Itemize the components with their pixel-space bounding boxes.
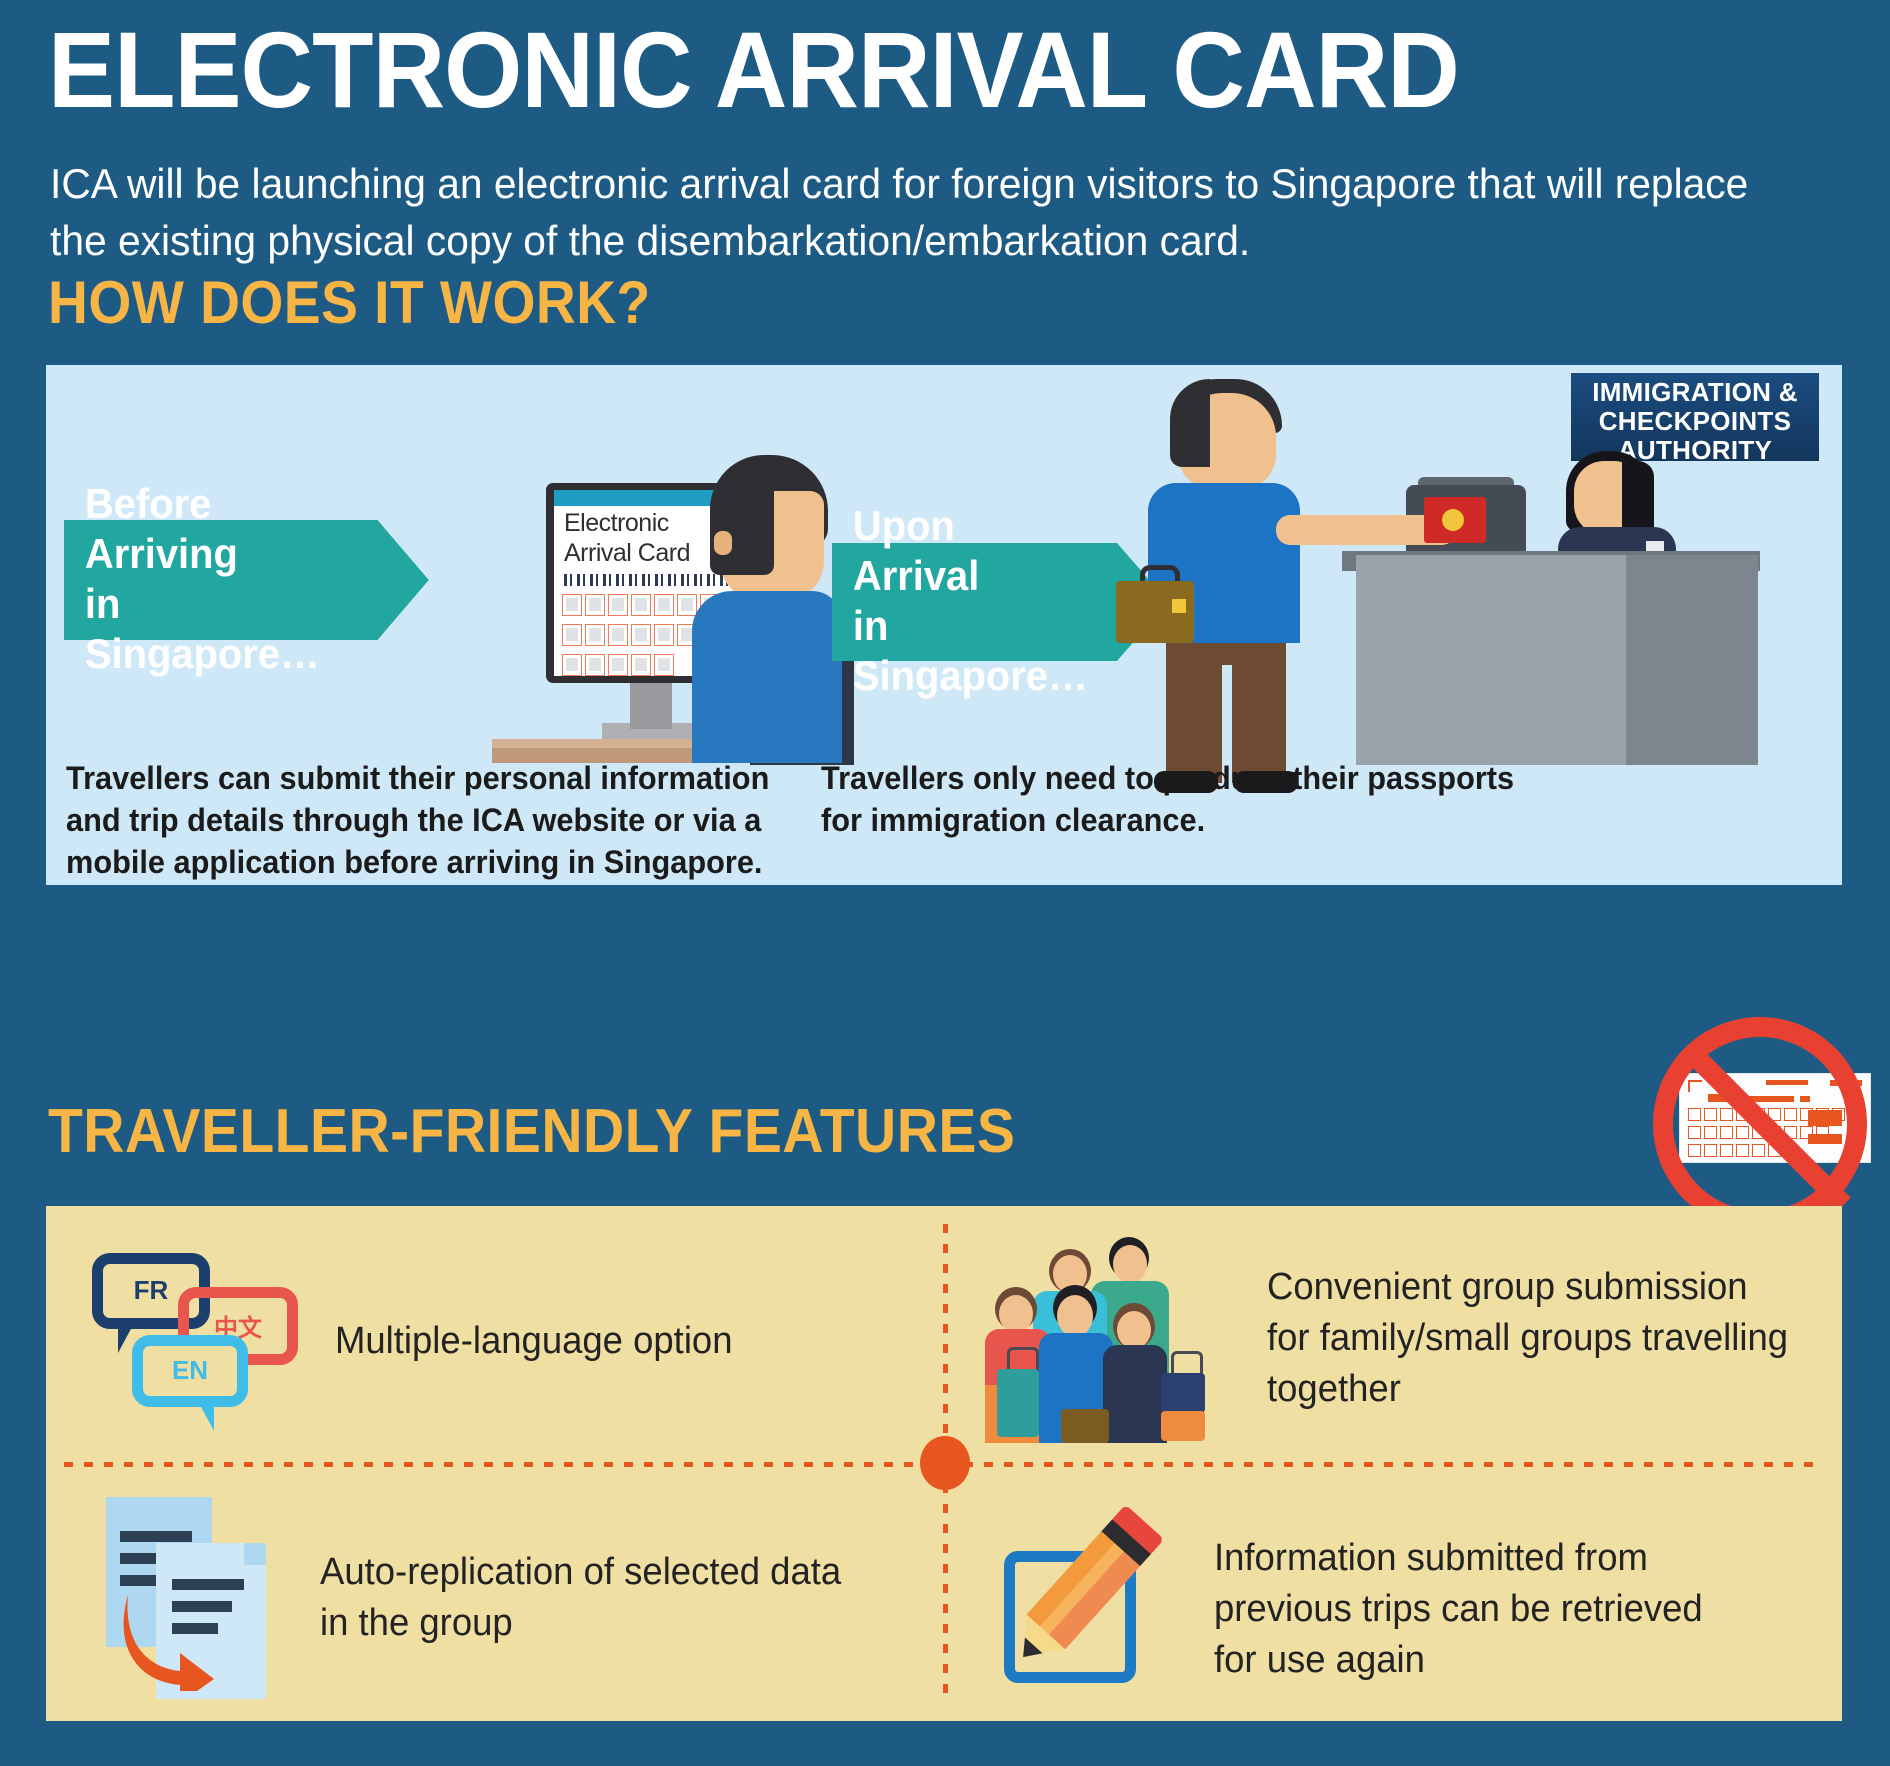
header-section: ELECTRONIC ARRIVAL CARD ICA will be laun… xyxy=(0,0,1890,340)
how-does-it-work-heading: HOW DOES IT WORK? xyxy=(48,272,651,334)
form-cell xyxy=(562,654,582,676)
language-bubble-fr-label: FR xyxy=(134,1275,169,1306)
person-head xyxy=(1057,1295,1093,1337)
form-cell xyxy=(608,654,628,676)
before-arriving-banner: Before Arriving in Singapore… xyxy=(64,520,378,640)
language-bubble-fr-tail xyxy=(118,1327,132,1353)
suitcase xyxy=(997,1369,1039,1437)
language-bubbles-icon: FR 中文 EN xyxy=(88,1249,303,1434)
traveller-hair-side xyxy=(1170,379,1210,467)
replication-arrow-icon xyxy=(122,1591,218,1691)
person-head xyxy=(1117,1311,1151,1349)
form-cell xyxy=(608,624,628,646)
upon-arrival-description: Travellers only need to produce their pa… xyxy=(821,757,1522,841)
language-bubble-en-tail xyxy=(200,1405,214,1431)
divider-center-dot xyxy=(920,1436,970,1490)
document-text-line xyxy=(120,1531,192,1542)
before-arriving-line2: in Singapore… xyxy=(85,579,349,679)
ica-sign-line1: IMMIGRATION & xyxy=(1571,378,1819,407)
screen-card-title: Electronic Arrival Card xyxy=(564,508,690,568)
upon-arrival-line2: in Singapore… xyxy=(853,601,1089,701)
feature-group-submission: Convenient group submission for family/s… xyxy=(991,1218,1821,1458)
form-cell xyxy=(562,594,582,616)
barcode xyxy=(564,574,742,586)
passport-emblem xyxy=(1442,509,1464,531)
feature-auto-replication: Auto-replication of selected data in the… xyxy=(98,1488,928,1708)
feature-retrieve-previous: Information submitted from previous trip… xyxy=(996,1494,1826,1724)
briefcase xyxy=(1061,1409,1109,1443)
person-body xyxy=(1103,1345,1167,1443)
suitcase xyxy=(1161,1411,1205,1441)
form-cell xyxy=(677,594,697,616)
banner-arrow-tip xyxy=(378,520,429,640)
feature-label-retrieve-previous: Information submitted from previous trip… xyxy=(1214,1533,1752,1686)
form-row xyxy=(562,654,674,676)
immigration-counter-illustration: IMMIGRATION & CHECKPOINTS AUTHORITY xyxy=(1106,365,1846,785)
document-replication-icon xyxy=(98,1491,288,1706)
monitor-neck xyxy=(630,683,672,729)
before-arriving-description: Travellers can submit their personal inf… xyxy=(66,757,776,883)
feature-label-multiple-language: Multiple-language option xyxy=(335,1316,873,1367)
user-ear xyxy=(714,531,732,555)
upon-arrival-line1: Upon Arrival xyxy=(853,501,1089,601)
form-cell xyxy=(608,594,628,616)
language-bubble-en: EN xyxy=(132,1335,248,1407)
form-cell xyxy=(585,654,605,676)
group-of-travellers-icon xyxy=(991,1233,1241,1443)
form-cell xyxy=(585,624,605,646)
user-hair-side xyxy=(710,455,774,575)
ica-sign-line2: CHECKPOINTS xyxy=(1571,407,1819,436)
before-arriving-line1: Before Arriving xyxy=(85,479,349,579)
user-torso xyxy=(692,591,842,763)
features-panel: FR 中文 EN Multiple-language option xyxy=(46,1206,1842,1721)
feature-label-group-submission: Convenient group submission for family/s… xyxy=(1267,1262,1795,1415)
upon-arrival-banner: Upon Arrival in Singapore… xyxy=(832,543,1117,661)
form-cell xyxy=(654,594,674,616)
traveller-friendly-features-heading: TRAVELLER-FRIENDLY FEATURES xyxy=(48,1100,1015,1164)
computer-illustration: Electronic Arrival Card xyxy=(482,455,842,785)
form-cell xyxy=(654,654,674,676)
screen-card-title-line2: Arrival Card xyxy=(564,538,690,568)
form-cell xyxy=(631,654,651,676)
intro-paragraph: ICA will be launching an electronic arri… xyxy=(50,155,1796,269)
screen-card-title-line1: Electronic xyxy=(564,508,690,538)
form-cell xyxy=(562,624,582,646)
form-cell xyxy=(631,624,651,646)
document-fold-corner xyxy=(244,1543,266,1565)
feature-multiple-language: FR 中文 EN Multiple-language option xyxy=(88,1228,908,1454)
suitcase xyxy=(1161,1373,1205,1413)
document-text-line xyxy=(172,1579,244,1590)
page-title: ELECTRONIC ARRIVAL CARD xyxy=(48,14,1459,126)
form-cell xyxy=(631,594,651,616)
person-head xyxy=(1113,1245,1147,1283)
how-it-works-panel: Before Arriving in Singapore… Electronic… xyxy=(46,365,1842,885)
counter-right-panel xyxy=(1626,555,1758,765)
briefcase-clasp xyxy=(1172,599,1186,613)
language-bubble-en-label: EN xyxy=(172,1355,208,1386)
ica-sign: IMMIGRATION & CHECKPOINTS AUTHORITY xyxy=(1571,373,1819,461)
form-cell xyxy=(654,624,674,646)
pencil-form-icon xyxy=(996,1509,1186,1709)
person-head xyxy=(999,1295,1033,1333)
feature-label-auto-replication: Auto-replication of selected data in the… xyxy=(320,1547,858,1649)
form-cell xyxy=(585,594,605,616)
